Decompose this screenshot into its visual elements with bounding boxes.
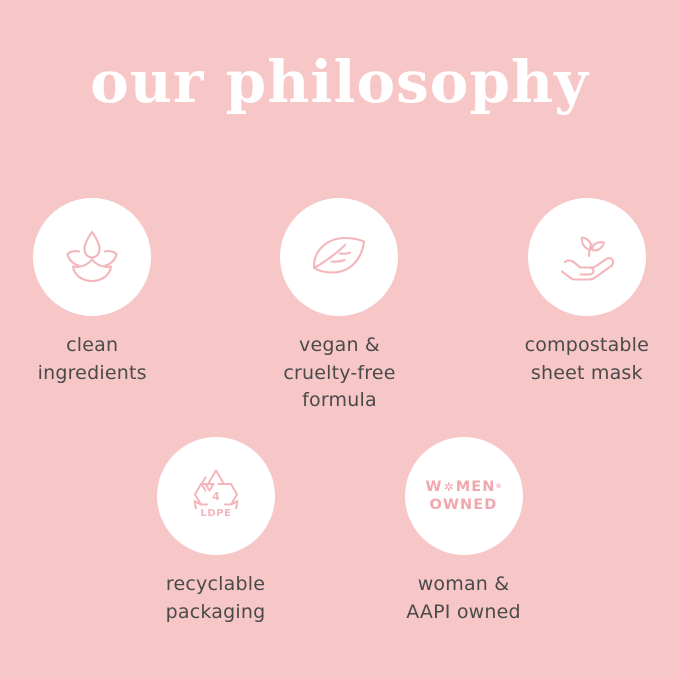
philosophy-item-recyclable-packaging: 4 LDPE recyclable packaging [123, 437, 308, 626]
caption-line: recyclable [166, 571, 266, 599]
philosophy-caption: compostable sheet mask [525, 332, 650, 387]
caption-line: clean [38, 332, 147, 360]
philosophy-item-compostable-sheet-mask: compostable sheet mask [495, 198, 679, 415]
philosophy-row-2: 4 LDPE recyclable packaging W✲MEN® OWNED [0, 437, 679, 626]
leaf-icon [301, 219, 377, 295]
hand-holding-sprout-icon [548, 218, 626, 296]
caption-line: woman & [406, 571, 521, 599]
trademark-symbol: ® [496, 484, 502, 490]
philosophy-row-1: clean ingredients vegan & cruelty-free [0, 198, 679, 415]
recycle-material: LDPE [200, 508, 231, 519]
women-owned-line-1: W✲MEN® [425, 480, 501, 495]
philosophy-item-clean-ingredients: clean ingredients [0, 198, 184, 415]
philosophy-item-woman-aapi-owned: W✲MEN® OWNED woman & AAPI owned [371, 437, 556, 626]
icon-circle: 4 LDPE [157, 437, 275, 555]
page-title: our philosophy [0, 52, 679, 113]
women-owned-men: MEN [456, 480, 496, 495]
caption-line: compostable [525, 332, 650, 360]
philosophy-caption: woman & AAPI owned [406, 571, 521, 626]
women-owned-star-icon: ✲ [444, 481, 455, 493]
icon-circle [33, 198, 151, 316]
caption-line: ingredients [38, 360, 147, 388]
philosophy-item-vegan-cruelty-free: vegan & cruelty-free formula [247, 198, 431, 415]
philosophy-graphic: our philosophy clean ingred [0, 0, 679, 679]
philosophy-caption: clean ingredients [38, 332, 147, 387]
recycle-ldpe-icon: 4 LDPE [177, 457, 255, 535]
caption-line: cruelty-free [283, 360, 395, 388]
recycle-number: 4 [212, 490, 220, 503]
lotus-leaf-icon [55, 220, 129, 294]
philosophy-caption: recyclable packaging [166, 571, 266, 626]
icon-circle [528, 198, 646, 316]
women-owned-badge-icon: W✲MEN® OWNED [425, 480, 501, 513]
caption-line: sheet mask [525, 360, 650, 388]
caption-line: vegan & [283, 332, 395, 360]
icon-circle [280, 198, 398, 316]
women-owned-w: W [425, 480, 442, 495]
icon-circle: W✲MEN® OWNED [405, 437, 523, 555]
caption-line: formula [283, 387, 395, 415]
caption-line: AAPI owned [406, 599, 521, 627]
philosophy-caption: vegan & cruelty-free formula [283, 332, 395, 415]
women-owned-line-2: OWNED [430, 498, 498, 513]
caption-line: packaging [166, 599, 266, 627]
